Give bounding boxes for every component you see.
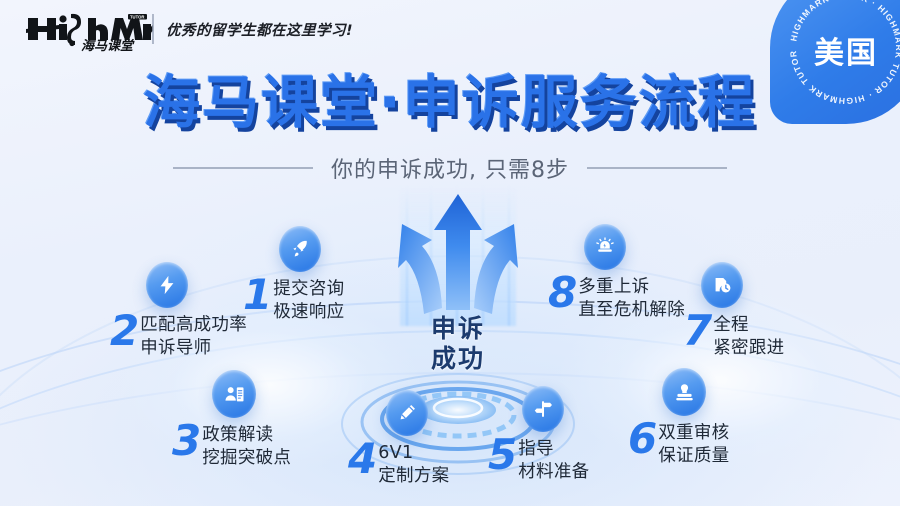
step-line2: 挖掘突破点 bbox=[202, 447, 291, 470]
step-body: 7 全程 紧密跟进 bbox=[683, 312, 784, 360]
clock-document-icon bbox=[701, 262, 743, 308]
stamp-icon bbox=[662, 368, 706, 416]
step-line2: 材料准备 bbox=[518, 461, 589, 484]
step-body: 5 指导 材料准备 bbox=[488, 436, 589, 484]
step-body: 3 政策解读 挖掘突破点 bbox=[172, 422, 291, 470]
lightning-bolt-icon bbox=[146, 262, 188, 308]
alarm-siren-icon bbox=[584, 224, 626, 270]
step-line1: 双重审核 bbox=[658, 422, 729, 445]
title-block: 海马课堂·申诉服务流程 bbox=[0, 72, 900, 136]
rocket-icon bbox=[279, 226, 321, 272]
step-line1: 指导 bbox=[518, 438, 589, 461]
person-document-icon bbox=[212, 370, 256, 418]
infographic-canvas: TUTOR 海马课堂 优秀的留学生都在这里学习! HIGHMARK TUTOR … bbox=[0, 0, 900, 506]
step-line2: 极速响应 bbox=[273, 301, 344, 324]
header-divider bbox=[152, 14, 154, 44]
step-number: 4 bbox=[348, 440, 376, 479]
subtitle-rule-right bbox=[587, 167, 727, 169]
header-bar: TUTOR 海马课堂 优秀的留学生都在这里学习! bbox=[0, 0, 900, 62]
badge-country-label: 美国 bbox=[770, 28, 900, 72]
signpost-icon bbox=[522, 386, 564, 432]
step-number: 2 bbox=[110, 312, 138, 351]
step-line2: 保证质量 bbox=[658, 445, 729, 468]
svg-text:TUTOR: TUTOR bbox=[130, 14, 144, 19]
step-line2: 直至危机解除 bbox=[578, 299, 685, 322]
step-line2: 紧密跟进 bbox=[713, 337, 784, 360]
step-line1: 多重上诉 bbox=[578, 276, 685, 299]
highmark-logo[interactable]: TUTOR 海马课堂 bbox=[25, 8, 153, 54]
svg-text:海马课堂: 海马课堂 bbox=[81, 38, 135, 54]
step-line1: 提交咨询 bbox=[273, 278, 344, 301]
page-title: 海马课堂·申诉服务流程 bbox=[143, 72, 757, 136]
highmark-logo-icon: TUTOR 海马课堂 bbox=[25, 8, 153, 54]
step-number: 6 bbox=[628, 420, 656, 459]
step-number: 8 bbox=[548, 274, 576, 313]
brand-tagline: 优秀的留学生都在这里学习! bbox=[166, 19, 353, 40]
step-line1: 全程 bbox=[713, 314, 784, 337]
step-line1: 6V1 bbox=[378, 442, 449, 465]
hero-graphic: 申诉 成功 bbox=[358, 186, 558, 416]
hero-label-line1: 申诉 bbox=[358, 314, 558, 344]
page-subtitle: 你的申诉成功, 只需8步 bbox=[331, 152, 569, 184]
step-line2: 定制方案 bbox=[378, 465, 449, 488]
step-line1: 政策解读 bbox=[202, 424, 291, 447]
step-body: 8 多重上诉 直至危机解除 bbox=[548, 274, 685, 322]
step-line2: 申诉导师 bbox=[140, 337, 247, 360]
step-number: 1 bbox=[243, 276, 271, 315]
subtitle-rule-left bbox=[173, 167, 313, 169]
step-number: 5 bbox=[488, 436, 516, 475]
step-body: 1 提交咨询 极速响应 bbox=[243, 276, 344, 324]
pen-icon bbox=[386, 390, 428, 436]
step-body: 2 匹配高成功率 申诉导师 bbox=[110, 312, 247, 360]
step-body: 4 6V1 定制方案 bbox=[348, 440, 449, 488]
step-line1: 匹配高成功率 bbox=[140, 314, 247, 337]
subtitle-block: 你的申诉成功, 只需8步 bbox=[0, 152, 900, 184]
step-number: 3 bbox=[172, 422, 200, 461]
step-number: 7 bbox=[683, 312, 711, 351]
step-body: 6 双重审核 保证质量 bbox=[628, 420, 729, 468]
